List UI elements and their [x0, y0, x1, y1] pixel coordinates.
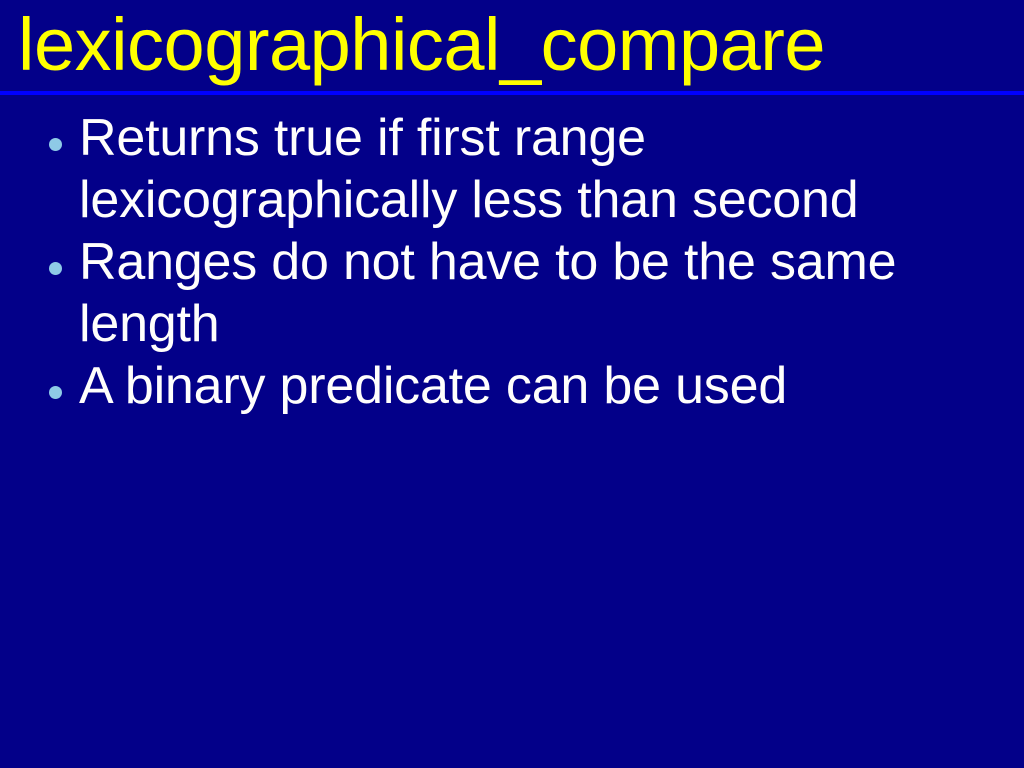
- bullet-dot-icon: [49, 138, 62, 151]
- bullet-dot-icon: [49, 386, 62, 399]
- bullet-list: Returns true if first range lexicographi…: [0, 95, 1024, 405]
- bullet-dot-icon: [49, 262, 62, 275]
- page-title: lexicographical_compare: [18, 0, 825, 91]
- list-item-label: Returns true if first range lexicographi…: [79, 107, 959, 231]
- slide-body: Returns true if first range lexicographi…: [0, 95, 1024, 768]
- list-item: Ranges do not have to be the same length: [0, 231, 1024, 355]
- slide-title-band: lexicographical_compare: [0, 0, 1024, 91]
- presentation-slide: lexicographical_compare Returns true if …: [0, 0, 1024, 768]
- list-item-label: A binary predicate can be used: [79, 355, 959, 417]
- list-item: Returns true if first range lexicographi…: [0, 107, 1024, 231]
- list-item-label: Ranges do not have to be the same length: [79, 231, 959, 355]
- list-item: A binary predicate can be used: [0, 355, 1024, 417]
